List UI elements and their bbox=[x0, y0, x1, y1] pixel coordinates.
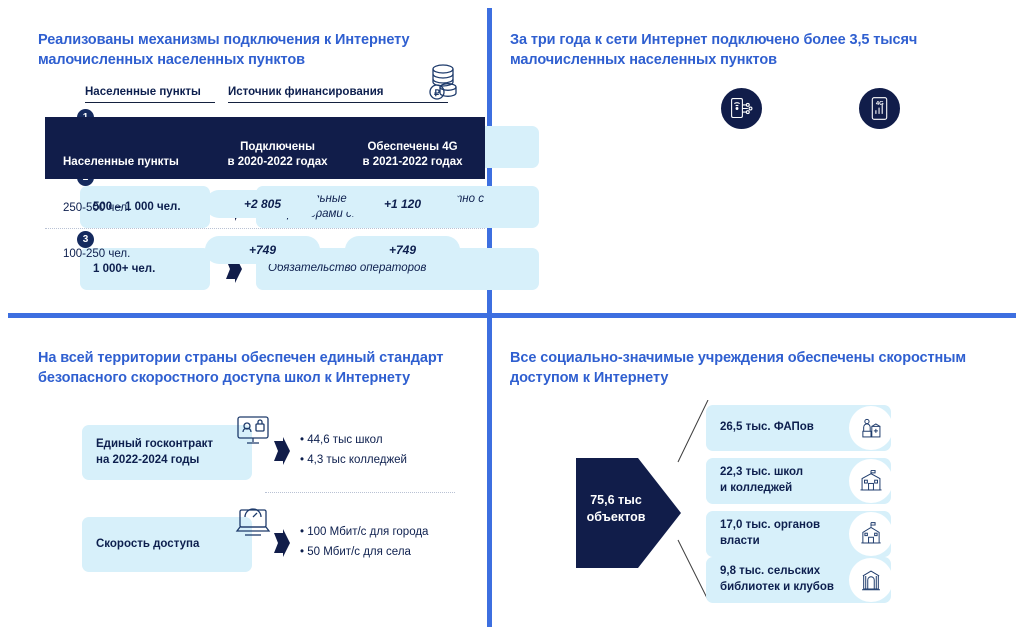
speed-bullets: 100 Мбит/с для города 50 Мбит/с для села bbox=[300, 522, 428, 562]
table-header-settlements: Населенные пункты bbox=[63, 155, 213, 170]
coins-ruble-icon: ₽ bbox=[424, 60, 460, 104]
total-line2: объектов bbox=[576, 509, 656, 526]
block-separator bbox=[265, 492, 455, 493]
institution-line1: 26,5 тыс. ФАПов bbox=[720, 421, 814, 433]
lte-value: +1 120 bbox=[345, 190, 460, 218]
institution-item: 17,0 тыс. органов власти bbox=[706, 511, 891, 557]
connected-value: +2 805 bbox=[205, 190, 320, 218]
table-row-separator bbox=[45, 228, 485, 229]
speed-box: Скорость доступа bbox=[82, 517, 252, 572]
government-building-icon bbox=[849, 512, 893, 556]
table-row: 250-500 чел. +2 805 +1 120 bbox=[45, 186, 485, 230]
quadrant3-title: На всей территории страны обеспечен един… bbox=[38, 348, 458, 388]
institution-item: 26,5 тыс. ФАПов bbox=[706, 405, 891, 451]
bullet-item: 4,3 тыс колледжей bbox=[300, 450, 407, 470]
arrow-icon bbox=[274, 437, 290, 465]
total-objects-label: 75,6 тыс объектов bbox=[576, 492, 656, 526]
institution-line2: и колледжей bbox=[720, 481, 803, 497]
institution-item: 9,8 тыс. сельских библиотек и клубов bbox=[706, 557, 891, 603]
institution-line1: 22,3 тыс. школ bbox=[720, 465, 803, 481]
results-table-header: Населенные пункты Подключены в 2020-2022… bbox=[45, 117, 485, 179]
institution-line1: 17,0 тыс. органов власти bbox=[720, 519, 820, 547]
contract-box: Единый госконтракт на 2022-2024 годы bbox=[82, 425, 252, 480]
quadrant-connection-results: За три года к сети Интернет подключено б… bbox=[492, 0, 1024, 313]
lte-value: +749 bbox=[345, 236, 460, 264]
arrow-icon bbox=[274, 529, 290, 557]
contract-bullets: 44,6 тыс школ 4,3 тыс колледжей bbox=[300, 430, 407, 470]
bullet-item: 50 Мбит/с для села bbox=[300, 542, 428, 562]
monitor-secure-user-icon bbox=[232, 409, 274, 451]
table-row: 100-250 чел. +749 +749 bbox=[45, 232, 485, 276]
school-icon bbox=[849, 459, 893, 503]
table-header-4g: Обеспечены 4G в 2021-2022 годах bbox=[345, 140, 480, 170]
laptop-speed-icon bbox=[232, 501, 274, 543]
row-label: 100-250 чел. bbox=[63, 248, 130, 260]
row-label: 250-500 чел. bbox=[63, 202, 130, 214]
bullet-item: 100 Мбит/с для города bbox=[300, 522, 428, 542]
institution-line1: 9,8 тыс. сельских bbox=[720, 564, 834, 580]
svg-text:4G: 4G bbox=[876, 101, 884, 107]
contract-line1: Единый госконтракт bbox=[96, 437, 252, 453]
contract-line2: на 2022-2024 годы bbox=[96, 453, 252, 469]
connected-value: +749 bbox=[205, 236, 320, 264]
library-icon bbox=[849, 558, 893, 602]
column-header-settlements: Населенные пункты bbox=[85, 86, 215, 103]
bullet-item: 44,6 тыс школ bbox=[300, 430, 407, 450]
quadrant1-title: Реализованы механизмы подключения к Инте… bbox=[38, 30, 458, 70]
medical-post-icon bbox=[849, 406, 893, 450]
total-line1: 75,6 тыс bbox=[576, 492, 656, 509]
institution-line2: библиотек и клубов bbox=[720, 580, 834, 596]
svg-text:₽: ₽ bbox=[434, 88, 440, 98]
table-header-connected: Подключены в 2020-2022 годах bbox=[205, 140, 350, 170]
speed-line1: Скорость доступа bbox=[96, 537, 252, 553]
internet-connection-icon bbox=[718, 85, 765, 132]
column-header-funding-source: Источник финансирования bbox=[228, 86, 448, 103]
infographic-board: Реализованы механизмы подключения к Инте… bbox=[0, 0, 1024, 635]
institution-item: 22,3 тыс. школ и колледжей bbox=[706, 458, 891, 504]
4g-signal-icon: 4G bbox=[856, 85, 903, 132]
quadrant4-title: Все социально-значимые учреждения обеспе… bbox=[510, 348, 1010, 388]
quadrant2-title: За три года к сети Интернет подключено б… bbox=[510, 30, 1010, 70]
